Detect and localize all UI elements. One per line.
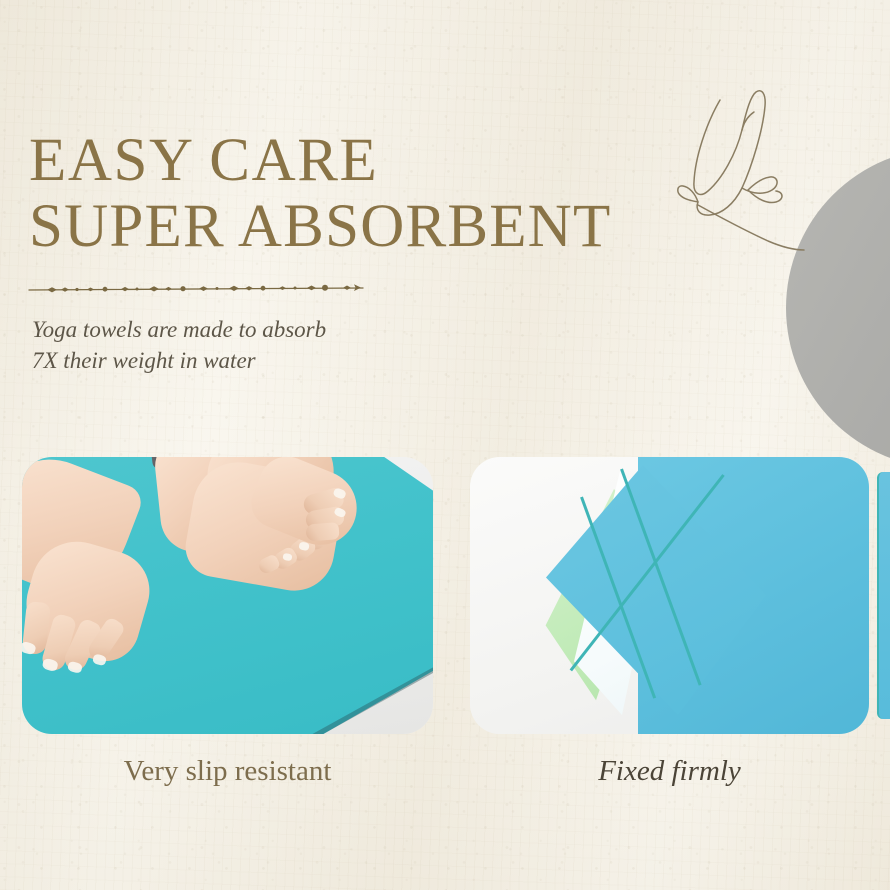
right-finger-3	[305, 522, 339, 541]
subtitle: Yoga towels are made to absorb 7X their …	[32, 314, 326, 376]
headline-line-2: SUPER ABSORBENT	[29, 194, 611, 260]
headline-line-1: EASY CARE	[29, 128, 611, 194]
photo-panel-fixed-firmly[interactable]	[470, 457, 869, 734]
caption-slip-resistant: Very slip resistant	[22, 753, 433, 789]
butterfly-icon	[648, 78, 828, 253]
page-title: EASY CARE SUPER ABSORBENT	[29, 128, 611, 260]
subtitle-line-1: Yoga towels are made to absorb	[32, 314, 326, 345]
subtitle-line-2: 7X their weight in water	[32, 345, 326, 376]
photo-panel-slip-resistant[interactable]	[22, 457, 433, 734]
ornamental-divider-icon	[25, 278, 375, 300]
promo-banner: EASY CARE SUPER ABSORBENT	[0, 0, 890, 890]
caption-fixed-firmly: Fixed firmly	[470, 753, 869, 789]
edge-towel-sliver	[877, 472, 890, 719]
toenail-3	[282, 553, 292, 561]
